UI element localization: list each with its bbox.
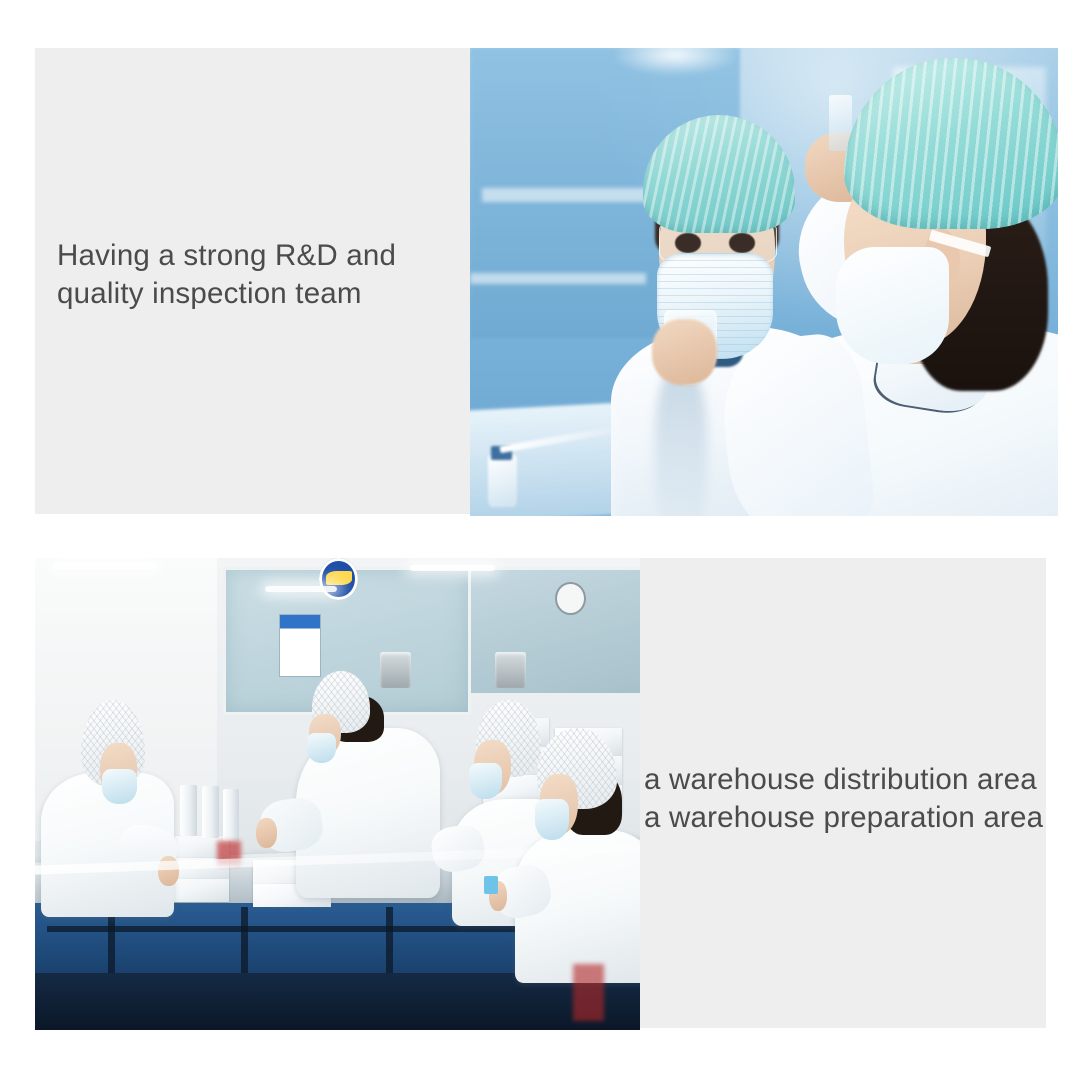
warehouse-strip-light-1 <box>53 563 156 570</box>
warehouse-worker-4-held-item <box>484 876 499 894</box>
capability-banner: Having a strong R&D and quality inspecti… <box>0 0 1080 1080</box>
warehouse-photo <box>35 558 640 1030</box>
product-tube-6 <box>223 789 240 841</box>
warehouse-worker-1-mask <box>102 769 137 804</box>
lab-worker-front-eye-left <box>675 233 701 253</box>
warehouse-worker-2-hand <box>256 818 277 849</box>
lab-worker-front-coat-shadow <box>655 367 707 516</box>
warehouse-strip-light-3 <box>410 565 495 571</box>
warehouse-red-accent-2 <box>573 964 603 1021</box>
product-tube-4 <box>180 785 197 837</box>
warehouse-worker-3-mask <box>469 763 502 799</box>
warehouse-worker-4-mask <box>535 799 569 840</box>
lab-worker-profile-hairnet <box>844 58 1058 229</box>
section-warehouse: a warehouse distribution area a warehous… <box>0 540 1080 1080</box>
lab-worker-front-hairnet-texture <box>643 115 795 233</box>
lab-worker-front-hairnet <box>643 115 795 233</box>
lab-scene <box>470 48 1058 516</box>
warehouse-caption-panel: a warehouse distribution area a warehous… <box>605 558 1046 1028</box>
warehouse-scene <box>35 558 640 1030</box>
lab-shelf-mid <box>470 273 646 284</box>
warehouse-vessel-2 <box>495 652 526 687</box>
warehouse-strip-light-2 <box>265 586 338 591</box>
section-rnd-quality: Having a strong R&D and quality inspecti… <box>0 0 1080 540</box>
lab-ceiling-light <box>611 48 740 76</box>
warehouse-worker-1 <box>41 700 174 917</box>
warehouse-wall-clock-icon <box>555 582 586 615</box>
lab-worker-profile-mask <box>836 247 949 364</box>
lab-holding-hand <box>652 319 717 385</box>
lab-worker-profile-hairnet-texture <box>844 58 1058 229</box>
lab-worker-profile <box>799 76 1058 516</box>
warehouse-worker-2-mask <box>307 733 336 764</box>
lab-bottle <box>488 455 517 506</box>
rnd-caption-panel: Having a strong R&D and quality inspecti… <box>35 48 472 514</box>
lab-worker-front-eye-right <box>729 233 755 253</box>
rnd-caption-text: Having a strong R&D and quality inspecti… <box>57 237 457 313</box>
rnd-lab-photo <box>470 48 1058 516</box>
warehouse-caption-text: a warehouse distribution area a warehous… <box>644 761 1054 837</box>
product-tube-5 <box>202 786 219 838</box>
